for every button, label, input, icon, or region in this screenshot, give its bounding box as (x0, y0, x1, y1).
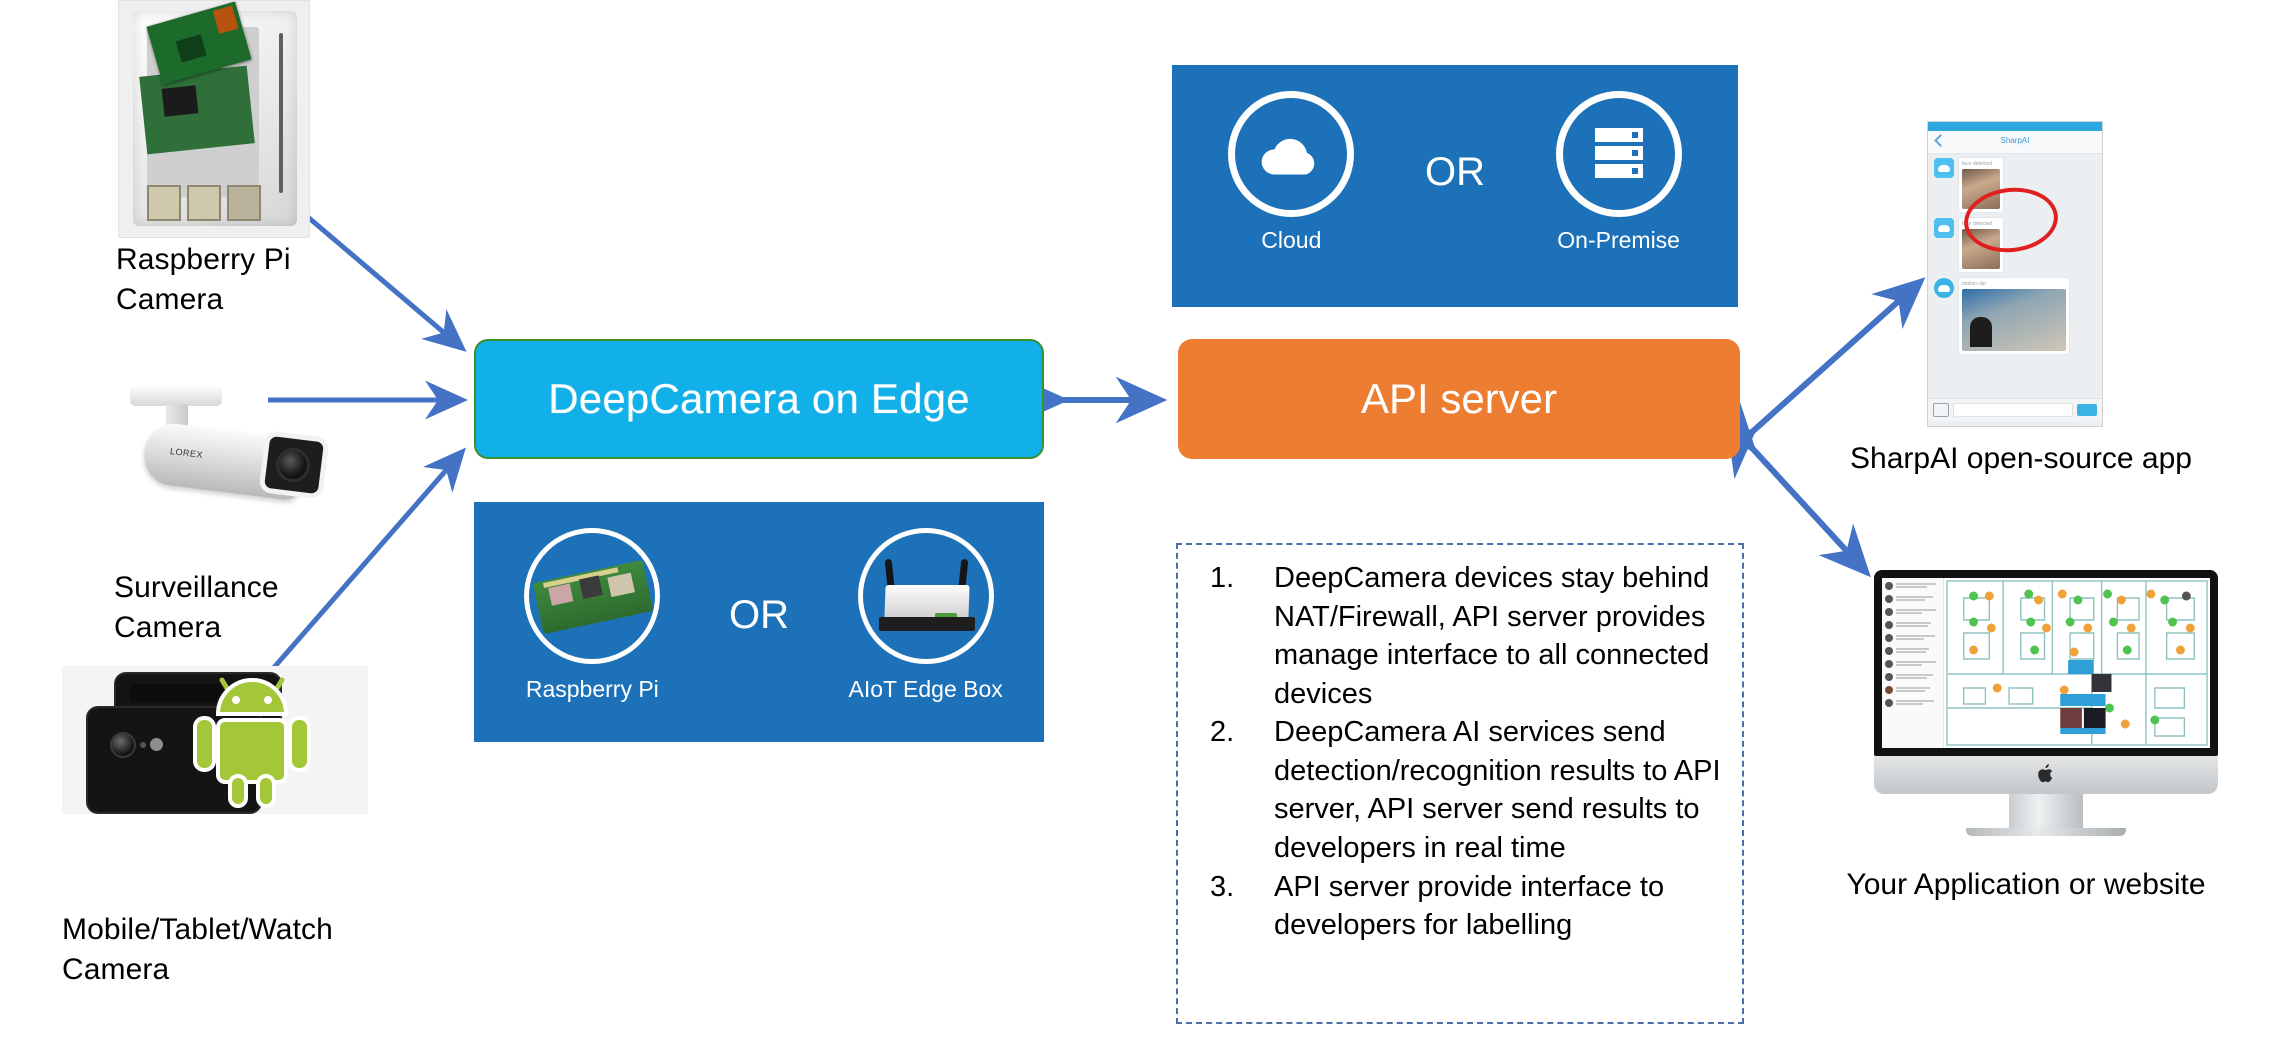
sharpai-app-mockup[interactable]: SharpAI face detected face detected (1927, 121, 2103, 427)
app-nav-bar: SharpAI (1928, 131, 2102, 154)
mobile-camera-photo: 6:05 (62, 666, 368, 814)
app-input-bar[interactable] (1928, 398, 2102, 421)
surveillance-camera-photo: LOREX (122, 382, 362, 532)
deployment-or-label: OR (1425, 150, 1485, 195)
diagram-canvas: Raspberry Pi Camera LOREX Surveillance C… (0, 0, 2292, 1062)
app-message-bubble: face detected (1959, 218, 2003, 272)
your-application-monitor[interactable] (1861, 570, 2231, 804)
deepcamera-on-edge-title: DeepCamera on Edge (548, 375, 970, 423)
app-message-row: face detected (1934, 218, 2096, 272)
sharpai-app-label: SharpAI open-source app (1811, 442, 2231, 476)
app-message-row: face detected (1934, 158, 2096, 212)
surveillance-camera-label-line2: Camera (114, 608, 354, 648)
app-message-caption: motion clip (1962, 281, 2066, 287)
raspberry-pi-camera-label-line1: Raspberry Pi (116, 240, 346, 280)
api-server-title: API server (1361, 375, 1557, 423)
monitor-viewport (1882, 578, 2210, 748)
raspberry-pi-camera-label-line2: Camera (116, 280, 346, 320)
deployment-option-cloud[interactable]: Cloud (1186, 91, 1396, 254)
edge-device-raspberry-pi[interactable]: Raspberry Pi (492, 528, 692, 703)
gallery-icon[interactable] (1933, 403, 1949, 417)
deployment-option-cloud-label: Cloud (1186, 227, 1396, 254)
app-message-input[interactable] (1953, 403, 2073, 417)
app-avatar-icon (1934, 158, 1954, 178)
app-nav-title: SharpAI (1928, 136, 2102, 145)
your-application-label: Your Application or website (1811, 868, 2241, 902)
edge-device-aiot-edge-box-label: AIoT Edge Box (826, 676, 1026, 703)
app-send-button[interactable] (2077, 404, 2097, 416)
deployment-option-on-premise[interactable]: On-Premise (1514, 91, 1724, 254)
cloud-icon (1228, 91, 1354, 217)
mobile-camera-label-line1: Mobile/Tablet/Watch (62, 910, 482, 950)
raspberry-pi-board-icon (524, 528, 660, 664)
android-robot-icon (192, 668, 312, 808)
app-message-caption: face detected (1962, 221, 2000, 227)
notes-panel: DeepCamera devices stay behind NAT/Firew… (1176, 543, 1744, 1024)
app-message-bubble: face detected (1959, 158, 2003, 212)
monitor-chin (1874, 756, 2218, 794)
deployment-option-on-premise-label: On-Premise (1514, 227, 1724, 254)
deepcamera-on-edge-box[interactable]: DeepCamera on Edge (474, 339, 1044, 459)
detection-video-thumbnail (1962, 289, 2066, 351)
raspberry-pi-camera-photo (118, 0, 310, 238)
api-server-box[interactable]: API server (1178, 339, 1740, 459)
raspberry-pi-photo-image (118, 0, 310, 238)
note-item: DeepCamera devices stay behind NAT/Firew… (1196, 559, 1726, 713)
edge-device-raspberry-pi-label: Raspberry Pi (492, 676, 692, 703)
app-message-caption: face detected (1962, 161, 2000, 167)
detected-face-thumbnail (1962, 169, 2000, 209)
monitor-foot (1966, 828, 2126, 836)
aiot-edge-box-icon (858, 528, 994, 664)
app-message-bubble: motion clip (1959, 278, 2069, 354)
note-item: DeepCamera AI services send detection/re… (1196, 713, 1726, 867)
edge-or-label: OR (729, 593, 789, 638)
surveillance-camera-label: Surveillance Camera (114, 568, 354, 647)
app-avatar-icon (1934, 278, 1954, 298)
app-message-row: motion clip (1934, 278, 2096, 354)
deployment-options-panel: Cloud OR On-Pr (1172, 65, 1738, 307)
dashboard-sidebar (1882, 578, 1944, 748)
monitor-screen (1874, 570, 2218, 756)
floorplan-heatmap (1944, 578, 2210, 748)
apple-logo-icon (2038, 764, 2054, 783)
app-message-list[interactable]: face detected face detected motion clip (1928, 154, 2102, 398)
mobile-camera-label: Mobile/Tablet/Watch Camera (62, 910, 482, 989)
edge-device-aiot-edge-box[interactable]: AIoT Edge Box (826, 528, 1026, 703)
app-avatar-icon (1934, 218, 1954, 238)
surveillance-camera-label-line1: Surveillance (114, 568, 354, 608)
detected-face-thumbnail (1962, 229, 2000, 269)
note-item: API server provide interface to develope… (1196, 868, 1726, 945)
app-status-bar (1928, 122, 2102, 131)
mobile-camera-label-line2: Camera (62, 950, 482, 990)
edge-devices-panel: Raspberry Pi OR AIoT Edge Box (474, 502, 1044, 742)
raspberry-pi-camera-label: Raspberry Pi Camera (116, 240, 346, 319)
server-rack-icon (1556, 91, 1682, 217)
notes-list: DeepCamera devices stay behind NAT/Firew… (1196, 559, 1726, 945)
monitor-neck (2009, 794, 2083, 828)
